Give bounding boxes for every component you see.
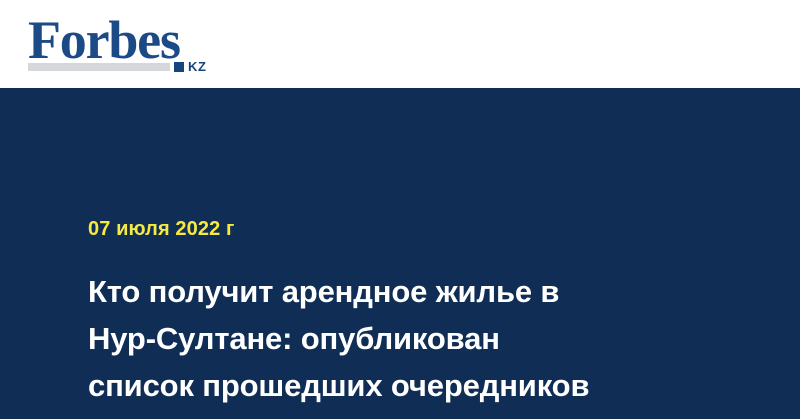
forbes-wordmark: Forbes [28, 13, 180, 67]
headline-line: Нур-Султане: опубликован [88, 315, 728, 362]
article-headline[interactable]: Кто получит арендное жилье в Нур-Султане… [88, 268, 728, 409]
logo-underline-bar [28, 63, 170, 71]
logo-kz-suffix: KZ [188, 60, 207, 73]
site-header: Forbes KZ [0, 0, 800, 88]
logo-square-icon [174, 62, 184, 72]
publication-date: 07 июля 2022 г [88, 217, 234, 241]
article-card: Forbes KZ 07 июля 2022 г Кто получит аре… [0, 0, 800, 419]
headline-line: Кто получит арендное жилье в [88, 268, 728, 315]
forbes-kz-logo[interactable]: Forbes KZ [28, 13, 228, 75]
hero-banner: 07 июля 2022 г Кто получит арендное жиль… [0, 88, 800, 419]
headline-line: список прошедших очередников [88, 362, 728, 409]
